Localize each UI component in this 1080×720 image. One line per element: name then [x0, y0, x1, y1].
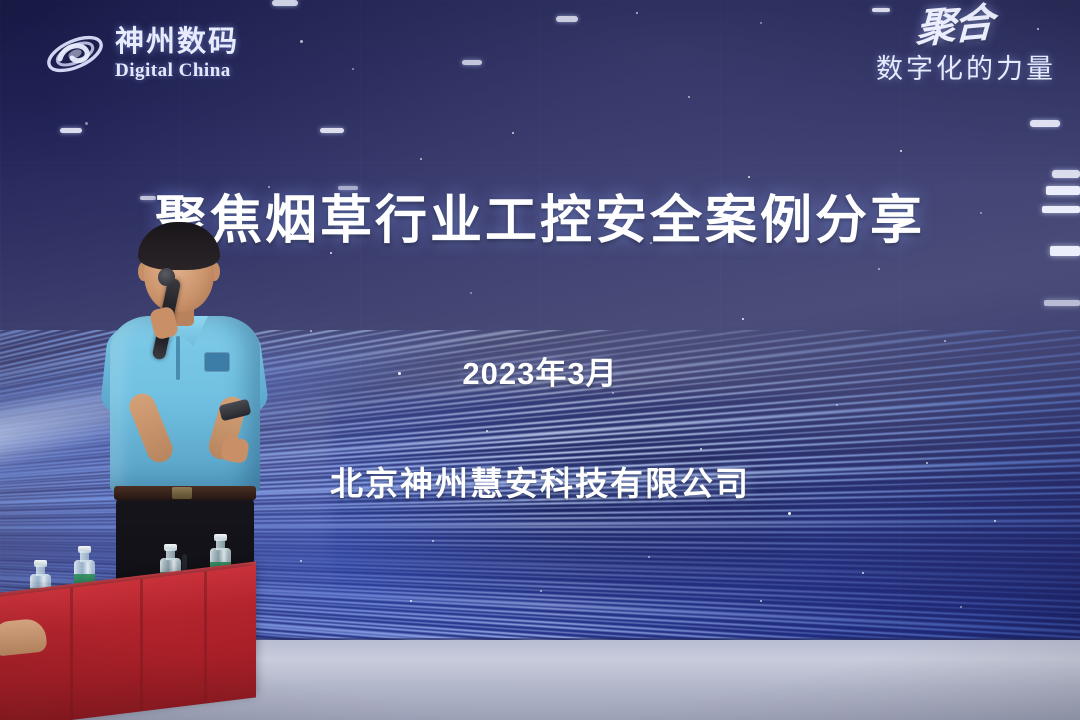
- light-particle: [636, 12, 638, 14]
- light-dash: [320, 128, 344, 133]
- light-particle: [700, 448, 702, 450]
- light-dash: [556, 16, 578, 22]
- light-particle: [648, 556, 650, 558]
- light-particle: [960, 606, 962, 608]
- spiral-galaxy-icon: [44, 26, 106, 82]
- brand-name-en: Digital China: [115, 61, 239, 80]
- light-particle: [944, 340, 946, 342]
- light-dash: [272, 0, 298, 6]
- brand-name-cn: 神州数码: [115, 28, 239, 57]
- event-slogan-logo: 聚合 数字化的力量: [786, 14, 1056, 114]
- digital-china-logo: 神州数码 Digital China: [44, 18, 274, 90]
- light-particle: [742, 318, 744, 320]
- light-dash: [60, 128, 82, 133]
- speaker-chest-logo-icon: [204, 352, 230, 372]
- light-particle: [878, 268, 880, 270]
- light-particle: [300, 560, 302, 562]
- speaker-placket: [176, 336, 180, 380]
- light-particle: [688, 96, 690, 98]
- conference-stage-photo: 神州数码 Digital China 聚合 数字化的力量 聚焦烟草行业工控安全案…: [0, 0, 1080, 720]
- light-dash: [1052, 170, 1080, 178]
- light-particle: [836, 404, 838, 406]
- light-dash: [462, 60, 482, 65]
- light-particle: [432, 540, 434, 542]
- light-particle: [512, 132, 514, 134]
- light-particle: [900, 150, 902, 152]
- speaker-belt-buckle: [172, 487, 192, 499]
- light-dash: [1030, 120, 1060, 127]
- speaker-hand-right: [220, 436, 250, 464]
- speaker-hair: [138, 222, 220, 270]
- light-particle: [760, 600, 762, 602]
- light-particle: [862, 572, 864, 574]
- light-particle: [310, 330, 312, 332]
- light-particle: [420, 158, 422, 160]
- light-particle: [486, 430, 488, 432]
- light-particle: [788, 512, 791, 515]
- light-particle: [994, 520, 996, 522]
- light-dash: [872, 8, 890, 12]
- light-particle: [410, 600, 412, 602]
- light-particle: [540, 590, 542, 592]
- light-particle: [470, 292, 472, 294]
- light-particle: [352, 68, 354, 70]
- edge-bar-icon: [1044, 300, 1080, 306]
- light-particle: [760, 22, 762, 24]
- light-particle: [85, 122, 88, 125]
- light-particle: [300, 40, 303, 43]
